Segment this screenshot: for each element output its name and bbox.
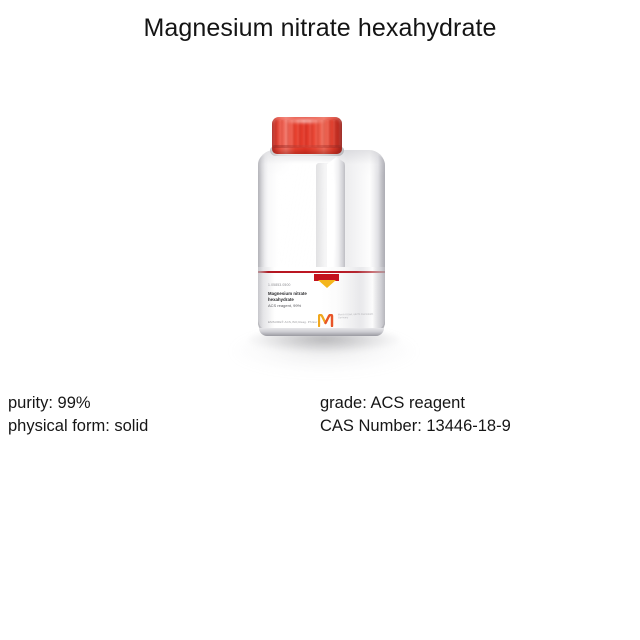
label-brand-line: EMSURE® ACS,ISO,Reag. Ph Eur bbox=[268, 320, 318, 324]
cap-seal-line bbox=[273, 145, 341, 148]
cap-ridges bbox=[272, 120, 342, 147]
label-top-rule bbox=[258, 271, 385, 273]
attributes-left-column: purity: 99% physical form: solid bbox=[8, 392, 148, 438]
label-grade-line: ACS reagent, 99% bbox=[268, 303, 301, 308]
bottle-cap bbox=[272, 117, 342, 154]
attribute-physical-form: physical form: solid bbox=[8, 415, 148, 438]
attributes-right-column: grade: ACS reagent CAS Number: 13446-18-… bbox=[320, 392, 511, 438]
label-product-name-line2: hexahydrate bbox=[268, 297, 294, 302]
hazard-triangle-icon bbox=[318, 280, 336, 288]
reagent-bottle: 1.05853.0500 Magnesium nitrate hexahydra… bbox=[215, 95, 430, 355]
attribute-grade: grade: ACS reagent bbox=[320, 392, 511, 415]
bottle-label: 1.05853.0500 Magnesium nitrate hexahydra… bbox=[258, 267, 385, 331]
attribute-purity: purity: 99% bbox=[8, 392, 148, 415]
handle-highlight bbox=[329, 165, 335, 265]
cap-highlight bbox=[284, 118, 326, 124]
page-title: Magnesium nitrate hexahydrate bbox=[0, 12, 640, 44]
label-product-name-line1: Magnesium nitrate bbox=[268, 291, 307, 296]
label-product-code: 1.05853.0500 bbox=[268, 283, 291, 287]
attribute-cas-number: CAS Number: 13446-18-9 bbox=[320, 415, 511, 438]
bottle-base bbox=[259, 328, 384, 336]
product-attributes: purity: 99% physical form: solid grade: … bbox=[0, 392, 640, 448]
product-image: 1.05853.0500 Magnesium nitrate hexahydra… bbox=[215, 95, 430, 380]
merck-logo-icon bbox=[318, 314, 334, 327]
label-fineprint: Merck KGaA, 64271 Darmstadt, Germany bbox=[338, 313, 378, 326]
